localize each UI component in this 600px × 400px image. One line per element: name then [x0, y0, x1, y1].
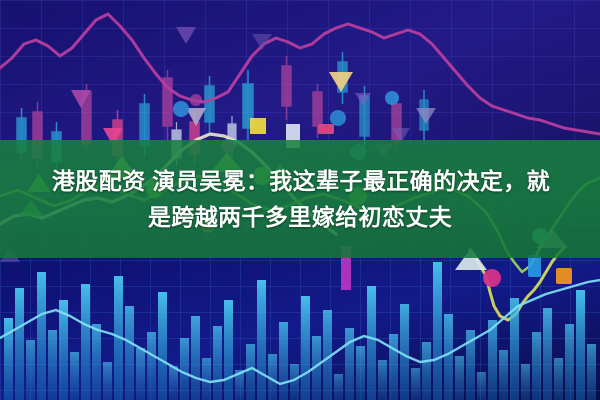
- circle-marker: [483, 269, 501, 287]
- square-marker: [556, 268, 572, 284]
- headline-text-block: 港股配资 演员吴冕：我这辈子最正确的决定，就 是跨越两千多里嫁给初恋丈夫: [0, 140, 600, 258]
- headline-line-2: 是跨越两千多里嫁给初恋丈夫: [148, 202, 452, 232]
- headline-line-1: 港股配资 演员吴冕：我这辈子最正确的决定，就: [50, 166, 550, 196]
- square-marker: [528, 255, 541, 277]
- banner-graphic: 港股配资 演员吴冕：我这辈子最正确的决定，就 是跨越两千多里嫁给初恋丈夫: [0, 0, 600, 400]
